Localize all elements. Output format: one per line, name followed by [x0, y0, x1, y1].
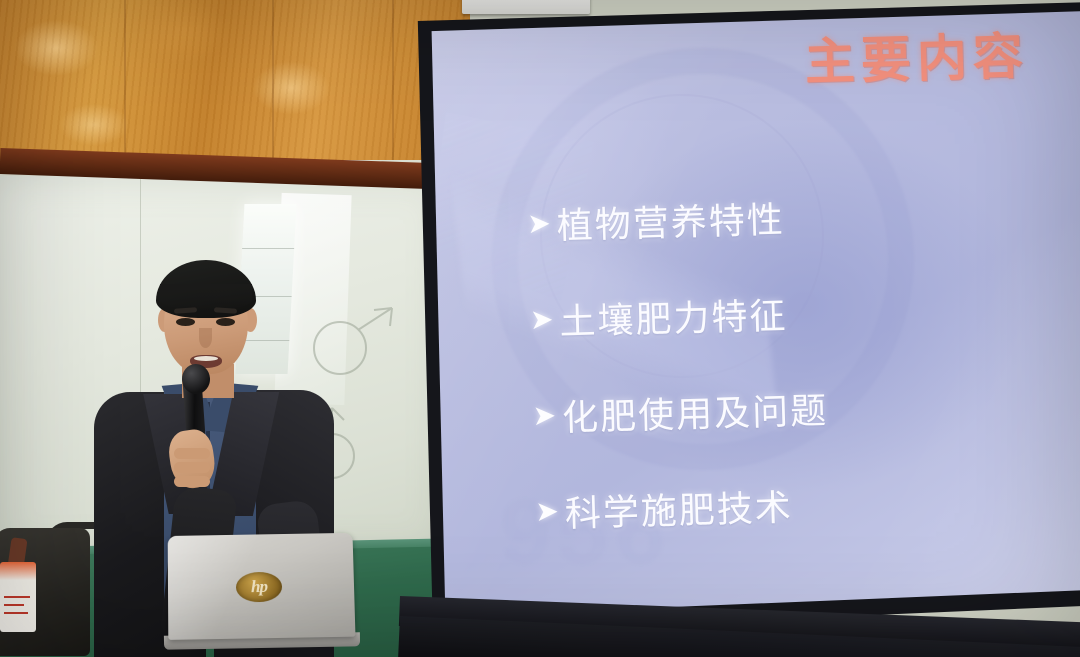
eye	[176, 318, 195, 326]
bullet-arrow-icon: ➤	[535, 497, 559, 526]
eye	[216, 318, 235, 326]
list-item: ➤ 化肥使用及问题	[532, 376, 1053, 442]
hair	[156, 260, 256, 318]
slide-content: 主要内容 ➤ 植物营养特性 ➤ 土壤肥力特征 ➤ 化肥使用及问题	[404, 2, 1080, 634]
projector-screen-roller[interactable]	[462, 0, 590, 14]
screenshot-root: hp 956 主要内容 ➤ 植物营养特性 ➤ 土壤肥力特	[0, 0, 1080, 657]
list-item-label: 植物营养特性	[556, 191, 785, 249]
list-item: ➤ 科学施肥技术	[535, 472, 1056, 538]
laptop-lid: hp	[168, 533, 356, 640]
list-item-label: 科学施肥技术	[564, 479, 793, 537]
bullet-arrow-icon: ➤	[527, 210, 551, 239]
bullet-arrow-icon: ➤	[530, 305, 554, 334]
list-item: ➤ 土壤肥力特征	[529, 280, 1050, 346]
list-item: ➤ 植物营养特性	[527, 184, 1048, 250]
laptop[interactable]: hp	[168, 534, 358, 652]
nose	[199, 328, 212, 348]
slide-bullet-list: ➤ 植物营养特性 ➤ 土壤肥力特征 ➤ 化肥使用及问题 ➤ 科学施肥技术	[527, 184, 1058, 582]
list-item-label: 化肥使用及问题	[561, 382, 828, 441]
slide-surface: 956 主要内容 ➤ 植物营养特性 ➤ 土壤肥力特征 ➤ 化肥使用及问题	[404, 2, 1080, 634]
bag-tag	[0, 562, 36, 632]
hp-logo-icon: hp	[236, 572, 283, 603]
list-item-label: 土壤肥力特征	[559, 287, 788, 345]
bullet-arrow-icon: ➤	[532, 401, 556, 430]
projection-screen: 956 主要内容 ➤ 植物营养特性 ➤ 土壤肥力特征 ➤ 化肥使用及问题	[396, 0, 1080, 657]
slide-title: 主要内容	[804, 16, 1030, 94]
